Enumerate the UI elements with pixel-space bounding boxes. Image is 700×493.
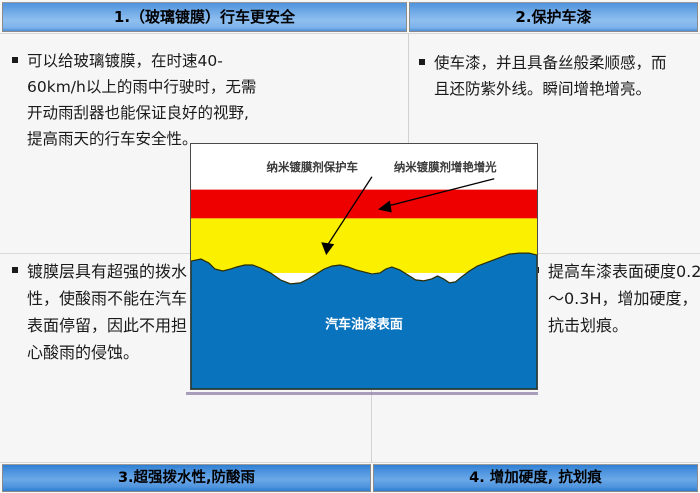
divider-bottom <box>0 462 700 463</box>
banner-heading-3: 3.超强拨水性,防酸雨 <box>2 464 371 492</box>
coating-cross-section-svg: 纳米镀膜剂保护车 纳米镀膜剂增艳增光 汽车油漆表面 <box>191 144 537 389</box>
bullet-item-top-right: 使车漆，并且具备丝般柔顺感，而且还防紫外线。瞬间增艳增亮。 <box>419 50 669 102</box>
bullet-square-icon <box>12 57 18 63</box>
coating-cross-section-figure: 纳米镀膜剂保护车 纳米镀膜剂增艳增光 汽车油漆表面 <box>190 143 538 390</box>
slide-canvas: 1.（玻璃镀膜）行车更安全 2.保护车漆 可以给玻璃镀膜，在时速40-60km/… <box>0 0 700 493</box>
bullet-text-top-left: 可以给玻璃镀膜，在时速40-60km/h以上的雨中行驶时，无需开动雨刮器也能保证… <box>27 48 257 152</box>
nano-coating-red-layer <box>191 190 537 219</box>
banner-heading-2-label: 2.保护车漆 <box>515 10 591 25</box>
bullet-text-bottom-right: 提高车漆表面硬度0.2～0.3H，增加硬度，抗击划痕。 <box>548 258 700 339</box>
banner-heading-1-label: 1.（玻璃镀膜）行车更安全 <box>114 10 295 25</box>
banner-heading-2: 2.保护车漆 <box>409 2 698 32</box>
banner-heading-4-label: 4. 增加硬度, 抗划痕 <box>469 471 602 486</box>
banner-heading-4: 4. 增加硬度, 抗划痕 <box>373 464 698 492</box>
banner-heading-3-label: 3.超强拨水性,防酸雨 <box>118 471 255 486</box>
bullet-text-top-right: 使车漆，并且具备丝般柔顺感，而且还防紫外线。瞬间增艳增亮。 <box>434 50 669 102</box>
bullet-square-icon <box>12 267 18 273</box>
figure-label-left: 纳米镀膜剂保护车 <box>267 160 358 174</box>
figure-label-right: 纳米镀膜剂增艳增光 <box>394 160 497 174</box>
bullet-text-bottom-left: 镀膜层具有超强的拨水性，使酸雨不能在汽车表面停留，因此不用担心酸雨的侵蚀。 <box>27 258 202 366</box>
figure-label-base: 汽车油漆表面 <box>325 317 403 333</box>
bullet-square-icon <box>419 59 425 65</box>
banner-heading-1: 1.（玻璃镀膜）行车更安全 <box>2 2 407 32</box>
bullet-item-bottom-right: 提高车漆表面硬度0.2～0.3H，增加硬度，抗击划痕。 <box>533 258 700 339</box>
bullet-item-bottom-left: 镀膜层具有超强的拨水性，使酸雨不能在汽车表面停留，因此不用担心酸雨的侵蚀。 <box>12 258 202 366</box>
bullet-item-top-left: 可以给玻璃镀膜，在时速40-60km/h以上的雨中行驶时，无需开动雨刮器也能保证… <box>12 48 257 152</box>
accent-rule <box>186 392 538 395</box>
